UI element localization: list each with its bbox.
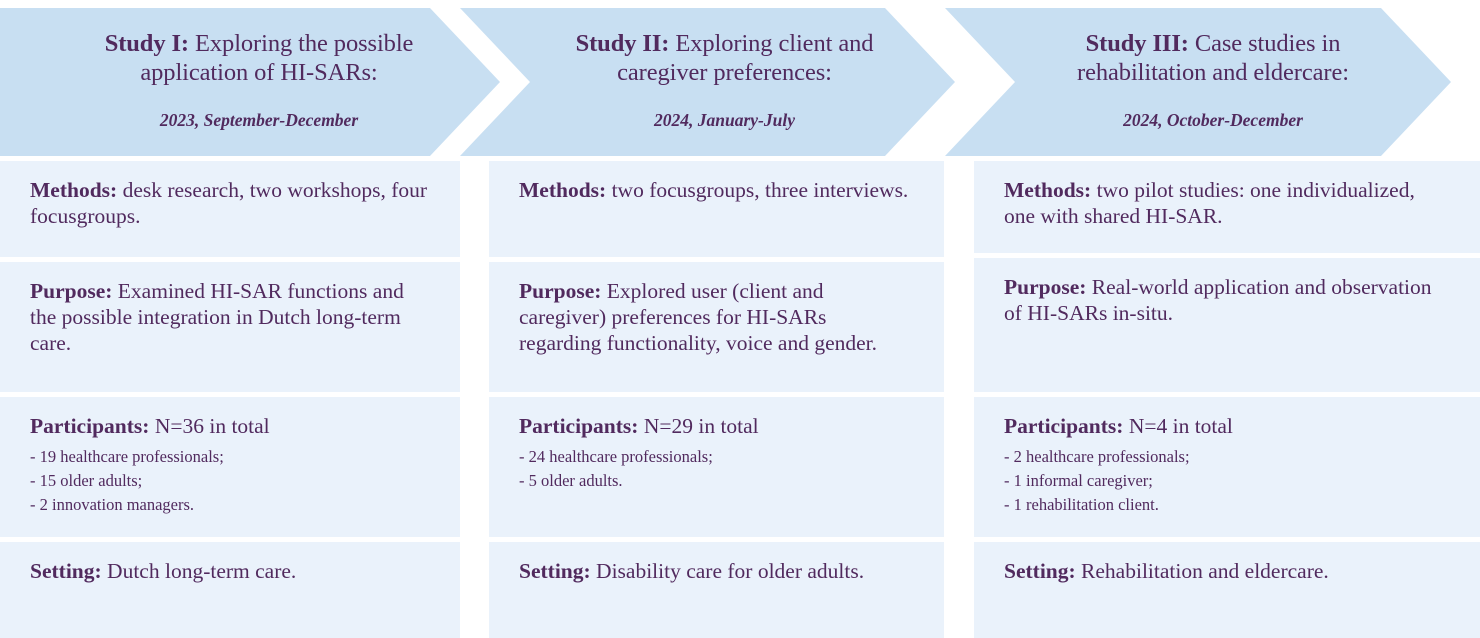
panel-text: Setting: Disability care for older adult… [519, 558, 914, 584]
panel-text: Methods: desk research, two workshops, f… [30, 177, 430, 229]
panel-methods-study-1: Methods: desk research, two workshops, f… [0, 161, 460, 257]
study-column-1: Study I: Exploring the possible applicat… [0, 0, 460, 628]
list-item: - 24 healthcare professionals; [519, 445, 914, 469]
panel-text: Purpose: Explored user (client and careg… [519, 278, 914, 357]
arrow-title-lead: Study II: [576, 30, 670, 57]
panel-text: Setting: Dutch long-term care. [30, 558, 430, 584]
panel-text: Participants: N=36 in total [30, 413, 430, 439]
panel-lead: Methods: [30, 178, 117, 202]
arrow-date-study-3: 2024, October-December [1123, 110, 1303, 131]
list-item: - 19 healthcare professionals; [30, 445, 430, 469]
study-column-2: Study II: Exploring client and caregiver… [489, 0, 944, 628]
panel-body: N=29 in total [638, 414, 758, 438]
list-item: - 2 healthcare professionals; [1004, 445, 1450, 469]
panel-text: Purpose: Examined HI-SAR functions and t… [30, 278, 430, 357]
arrow-title-lead: Study I: [105, 30, 189, 57]
panel-body: two focusgroups, three interviews. [606, 178, 908, 202]
panel-text: Methods: two pilot studies: one individu… [1004, 177, 1450, 229]
panel-body: N=36 in total [149, 414, 269, 438]
panel-stack-study-2: Methods: two focusgroups, three intervie… [489, 161, 944, 628]
panel-participants-study-2: Participants: N=29 in total - 24 healthc… [489, 397, 944, 537]
panel-lead: Participants: [30, 414, 149, 438]
arrow-date-study-1: 2023, September-December [160, 110, 358, 131]
arrow-title-lead: Study III: [1086, 30, 1189, 57]
panel-setting-study-2: Setting: Disability care for older adult… [489, 542, 944, 638]
panel-text: Setting: Rehabilitation and eldercare. [1004, 558, 1450, 584]
panel-lead: Participants: [1004, 414, 1123, 438]
arrow-header-study-3: Study III: Case studies in rehabilitatio… [945, 8, 1451, 156]
study-column-3: Study III: Case studies in rehabilitatio… [974, 0, 1480, 628]
arrow-date-study-2: 2024, January-July [654, 110, 795, 131]
panel-methods-study-3: Methods: two pilot studies: one individu… [974, 161, 1480, 253]
panel-body: N=4 in total [1123, 414, 1232, 438]
arrow-title-study-3: Study III: Case studies in rehabilitatio… [1033, 8, 1393, 88]
panel-lead: Participants: [519, 414, 638, 438]
panel-lead: Methods: [1004, 178, 1091, 202]
panel-purpose-study-1: Purpose: Examined HI-SAR functions and t… [0, 262, 460, 392]
panel-lead: Setting: [1004, 559, 1076, 583]
panel-stack-study-1: Methods: desk research, two workshops, f… [0, 161, 460, 628]
arrow-title-study-1: Study I: Exploring the possible applicat… [83, 8, 435, 88]
panel-lead: Setting: [519, 559, 591, 583]
list-item: - 5 older adults. [519, 469, 914, 493]
arrow-header-study-1: Study I: Exploring the possible applicat… [0, 8, 500, 156]
panel-purpose-study-3: Purpose: Real-world application and obse… [974, 258, 1480, 392]
panel-text: Methods: two focusgroups, three intervie… [519, 177, 914, 203]
panel-body: Disability care for older adults. [591, 559, 864, 583]
panel-body: Rehabilitation and eldercare. [1076, 559, 1329, 583]
panel-body: Dutch long-term care. [102, 559, 297, 583]
list-item: - 1 informal caregiver; [1004, 469, 1450, 493]
panel-text: Participants: N=29 in total [519, 413, 914, 439]
panel-lead: Methods: [519, 178, 606, 202]
list-item: - 1 rehabilitation client. [1004, 493, 1450, 517]
list-item: - 2 innovation managers. [30, 493, 430, 517]
panel-setting-study-3: Setting: Rehabilitation and eldercare. [974, 542, 1480, 638]
panel-participants-study-3: Participants: N=4 in total - 2 healthcar… [974, 397, 1480, 537]
panel-lead: Purpose: [30, 279, 112, 303]
panel-purpose-study-2: Purpose: Explored user (client and careg… [489, 262, 944, 392]
list-item: - 15 older adults; [30, 469, 430, 493]
panel-setting-study-1: Setting: Dutch long-term care. [0, 542, 460, 638]
panel-methods-study-2: Methods: two focusgroups, three intervie… [489, 161, 944, 257]
panel-lead: Setting: [30, 559, 102, 583]
panel-lead: Purpose: [519, 279, 601, 303]
panel-participants-study-1: Participants: N=36 in total - 19 healthc… [0, 397, 460, 537]
participants-breakdown-list: - 2 healthcare professionals; - 1 inform… [1004, 445, 1450, 517]
panel-text: Participants: N=4 in total [1004, 413, 1450, 439]
panel-text: Purpose: Real-world application and obse… [1004, 274, 1450, 326]
arrow-title-study-2: Study II: Exploring client and caregiver… [550, 8, 900, 88]
arrow-header-study-2: Study II: Exploring client and caregiver… [460, 8, 955, 156]
panel-lead: Purpose: [1004, 275, 1086, 299]
participants-breakdown-list: - 24 healthcare professionals; - 5 older… [519, 445, 914, 493]
panel-stack-study-3: Methods: two pilot studies: one individu… [974, 161, 1480, 628]
study-overview-diagram: Study I: Exploring the possible applicat… [0, 0, 1480, 628]
participants-breakdown-list: - 19 healthcare professionals; - 15 olde… [30, 445, 430, 517]
